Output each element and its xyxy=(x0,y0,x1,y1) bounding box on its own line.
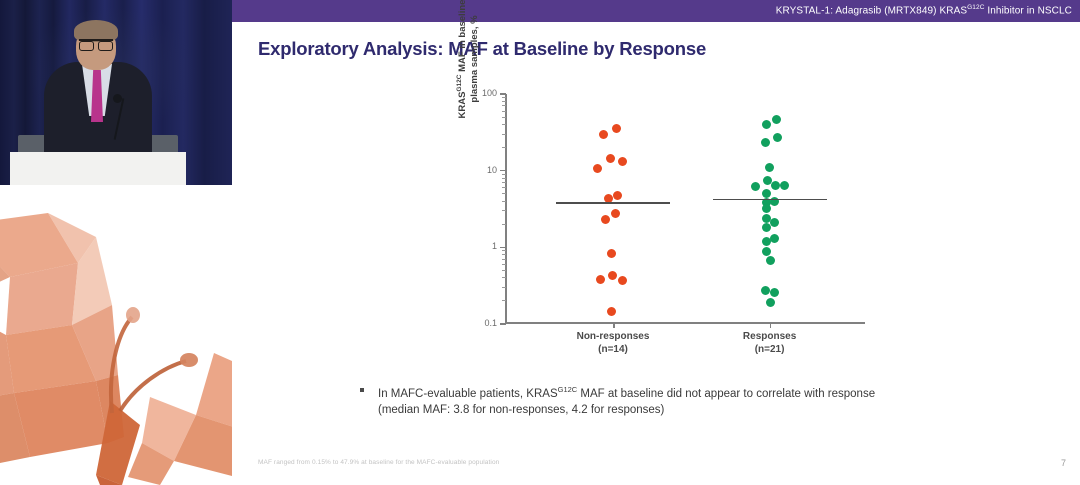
data-point[interactable] xyxy=(601,215,610,224)
data-point[interactable] xyxy=(766,256,775,265)
bullet-text-part1: In MAFC-evaluable patients, KRAS xyxy=(378,388,558,400)
data-point[interactable] xyxy=(780,181,789,190)
median-line xyxy=(556,202,670,204)
x-tick-mark xyxy=(770,322,772,328)
header-study-label: KRYSTAL-1: Adagrasib (MRTX849) KRASG12C … xyxy=(776,4,1072,16)
y-minor-tick xyxy=(502,117,506,118)
y-minor-tick xyxy=(502,105,506,106)
butterfly-svg xyxy=(0,185,232,485)
y-tick-label: 1 xyxy=(471,241,497,251)
bullet-text-line2: (median MAF: 3.8 for non-responses, 4.2 … xyxy=(378,404,664,416)
video-panel xyxy=(0,0,232,485)
y-tick-mark xyxy=(500,170,506,172)
data-point[interactable] xyxy=(608,271,617,280)
y-minor-tick xyxy=(502,210,506,211)
data-point[interactable] xyxy=(607,249,616,258)
data-point[interactable] xyxy=(766,298,775,307)
y-minor-tick xyxy=(502,193,506,194)
data-point[interactable] xyxy=(761,286,770,295)
data-point[interactable] xyxy=(765,163,774,172)
y-minor-tick xyxy=(502,97,506,98)
x-axis-group-count: (n=14) xyxy=(538,343,688,356)
data-point[interactable] xyxy=(762,189,771,198)
y-tick-label: 10 xyxy=(471,165,497,175)
y-minor-tick xyxy=(502,277,506,278)
x-axis-group-name: Responses xyxy=(743,331,796,342)
data-point[interactable] xyxy=(606,154,615,163)
y-minor-tick xyxy=(502,224,506,225)
bullet-text: In MAFC-evaluable patients, KRASG12C MAF… xyxy=(378,382,875,418)
speaker-video-feed[interactable] xyxy=(0,0,232,185)
data-point[interactable] xyxy=(596,275,605,284)
y-minor-tick xyxy=(502,287,506,288)
y-axis-title-superscript: G12C xyxy=(456,75,463,92)
low-poly-butterfly-graphic xyxy=(0,185,232,485)
page-title: Exploratory Analysis: MAF at Baseline by… xyxy=(258,38,706,60)
data-point[interactable] xyxy=(762,237,771,246)
x-axis-line xyxy=(505,322,865,324)
page-number: 7 xyxy=(1061,458,1066,468)
x-axis-group-count: (n=21) xyxy=(695,343,845,356)
y-tick-mark xyxy=(500,247,506,249)
header-study-suffix: Inhibitor in NSCLC xyxy=(985,5,1073,16)
data-point[interactable] xyxy=(770,288,779,297)
data-point[interactable] xyxy=(770,218,779,227)
y-minor-tick xyxy=(502,124,506,125)
data-point[interactable] xyxy=(751,182,760,191)
data-point[interactable] xyxy=(607,307,616,316)
y-minor-tick xyxy=(502,250,506,251)
y-tick-mark xyxy=(500,93,506,95)
header-study-superscript: G12C xyxy=(967,4,984,11)
data-point[interactable] xyxy=(771,181,780,190)
y-minor-tick xyxy=(502,178,506,179)
y-minor-tick xyxy=(502,254,506,255)
y-minor-tick xyxy=(502,134,506,135)
median-line xyxy=(713,199,827,201)
presentation-slide: KRYSTAL-1: Adagrasib (MRTX849) KRASG12C … xyxy=(232,0,1080,485)
data-point[interactable] xyxy=(618,157,627,166)
y-minor-tick xyxy=(502,300,506,301)
x-tick-mark xyxy=(613,322,615,328)
scatter-chart: KRASG12C MAF in baseline plasma samples,… xyxy=(457,88,877,356)
y-minor-tick xyxy=(502,174,506,175)
x-axis-group-label: Responses(n=21) xyxy=(695,330,845,356)
y-axis-title-prefix: KRAS xyxy=(457,92,468,119)
data-point[interactable] xyxy=(593,164,602,173)
data-point[interactable] xyxy=(762,204,771,213)
data-point[interactable] xyxy=(762,247,771,256)
y-minor-tick xyxy=(502,182,506,183)
y-minor-tick xyxy=(502,264,506,265)
y-minor-tick xyxy=(502,187,506,188)
data-point[interactable] xyxy=(761,138,770,147)
microphone-head xyxy=(113,94,122,103)
speaker-glasses xyxy=(79,39,113,49)
x-axis-group-label: Non-responses(n=14) xyxy=(538,330,688,356)
y-tick-label: 100 xyxy=(471,88,497,98)
footnote: MAF ranged from 0.15% to 47.9% at baseli… xyxy=(258,459,499,466)
data-point[interactable] xyxy=(762,120,771,129)
y-minor-tick xyxy=(502,270,506,271)
data-point[interactable] xyxy=(612,124,621,133)
y-axis-title: KRASG12C MAF in baseline plasma samples,… xyxy=(454,0,481,134)
data-point[interactable] xyxy=(611,209,620,218)
bullet-text-superscript: G12C xyxy=(558,385,578,394)
data-point[interactable] xyxy=(772,115,781,124)
y-minor-tick xyxy=(502,101,506,102)
data-point[interactable] xyxy=(599,130,608,139)
podium-front-panel xyxy=(10,152,186,185)
y-minor-tick xyxy=(502,147,506,148)
y-tick-mark xyxy=(500,323,506,325)
data-point[interactable] xyxy=(762,223,771,232)
y-minor-tick xyxy=(502,259,506,260)
y-minor-tick xyxy=(502,201,506,202)
y-tick-label: 0.1 xyxy=(471,318,497,328)
bullet-text-part2: MAF at baseline did not appear to correl… xyxy=(577,388,875,400)
data-point[interactable] xyxy=(773,133,782,142)
data-point[interactable] xyxy=(618,276,627,285)
header-study-prefix: KRYSTAL-1: Adagrasib (MRTX849) KRAS xyxy=(776,5,967,16)
x-axis-group-name: Non-responses xyxy=(577,331,650,342)
bullet-marker-icon xyxy=(360,388,364,392)
y-minor-tick xyxy=(502,111,506,112)
data-point[interactable] xyxy=(770,234,779,243)
data-point[interactable] xyxy=(613,191,622,200)
y-axis-line xyxy=(505,94,507,324)
